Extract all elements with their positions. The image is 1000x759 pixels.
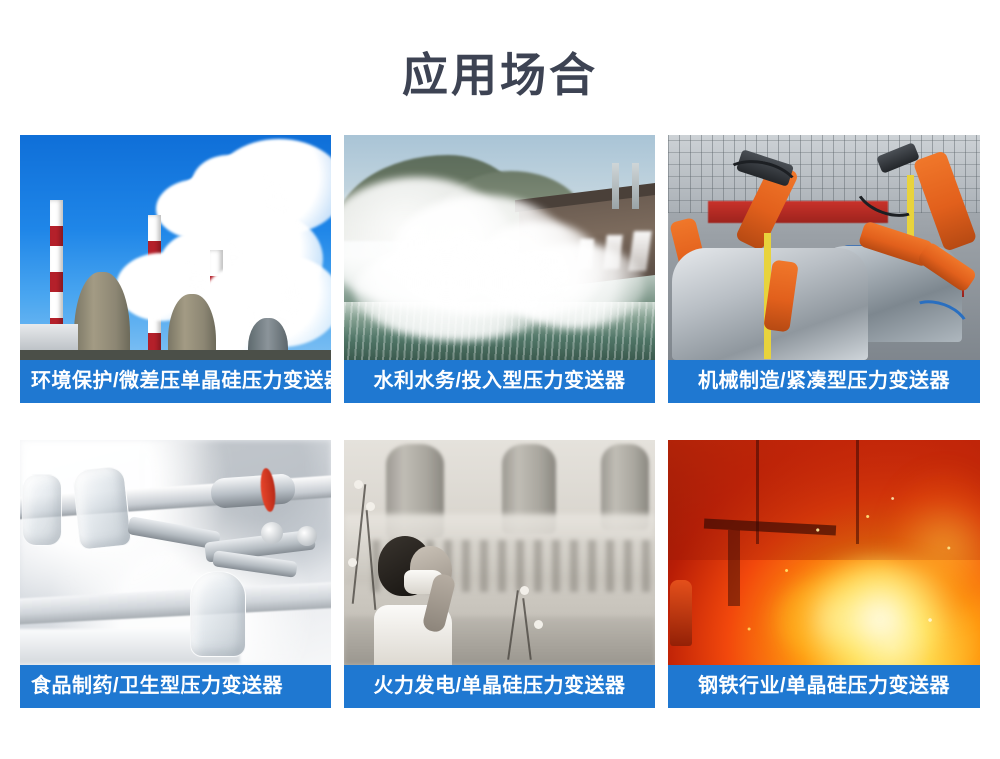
application-card-water-conservancy[interactable]: 水利水务/投入型压力变送器	[344, 135, 655, 403]
application-card-thermal-power[interactable]: 火力发电/单晶硅压力变送器	[344, 440, 655, 708]
application-scenarios-page: 应用场合	[0, 0, 1000, 759]
ground-strip	[20, 350, 331, 360]
red-panel	[708, 201, 888, 223]
application-card-machinery-manufacturing[interactable]: 机械制造/紧凑型压力变送器	[668, 135, 980, 403]
flower-bud	[534, 620, 543, 629]
card-caption: 钢铁行业/单晶硅压力变送器	[668, 665, 980, 708]
flower-bud	[366, 502, 375, 511]
flower-bud	[354, 480, 363, 489]
vial-cap	[261, 522, 283, 544]
application-cards-grid: 环境保护/微差压单晶硅压力变送器 水利水	[20, 135, 980, 708]
card-caption: 火力发电/单晶硅压力变送器	[344, 665, 655, 708]
glass-vial	[190, 571, 246, 657]
glass-vial	[72, 466, 132, 551]
water-mist	[354, 241, 564, 341]
application-card-food-pharmaceutical[interactable]: 食品制药/卫生型压力变送器	[20, 440, 331, 708]
pneumatic-cylinder	[210, 473, 296, 509]
card-caption: 食品制药/卫生型压力变送器	[20, 665, 331, 708]
power-plant-smokestacks-photo	[20, 135, 331, 360]
glass-vial	[22, 474, 62, 546]
card-caption: 机械制造/紧凑型压力变送器	[668, 360, 980, 403]
robotic-assembly-line-photo	[668, 135, 980, 360]
application-card-steel-industry[interactable]: 钢铁行业/单晶硅压力变送器	[668, 440, 980, 708]
vial-cap	[297, 526, 317, 546]
card-caption: 环境保护/微差压单晶硅压力变送器	[20, 360, 331, 403]
spillway-gate	[632, 163, 639, 209]
page-title: 应用场合	[0, 46, 1000, 104]
spillway-gate	[612, 163, 619, 209]
spark-particles	[668, 440, 980, 665]
hydro-dam-spillway-photo	[344, 135, 655, 360]
child-mask-cooling-towers-photo	[344, 440, 655, 665]
pharmaceutical-vial-filling-photo	[20, 440, 331, 665]
application-card-environmental-protection[interactable]: 环境保护/微差压单晶硅压力变送器	[20, 135, 331, 403]
flower-bud	[520, 586, 529, 595]
card-caption: 水利水务/投入型压力变送器	[344, 360, 655, 403]
flower-bud	[348, 558, 357, 567]
steel-mill-molten-sparks-photo	[668, 440, 980, 665]
